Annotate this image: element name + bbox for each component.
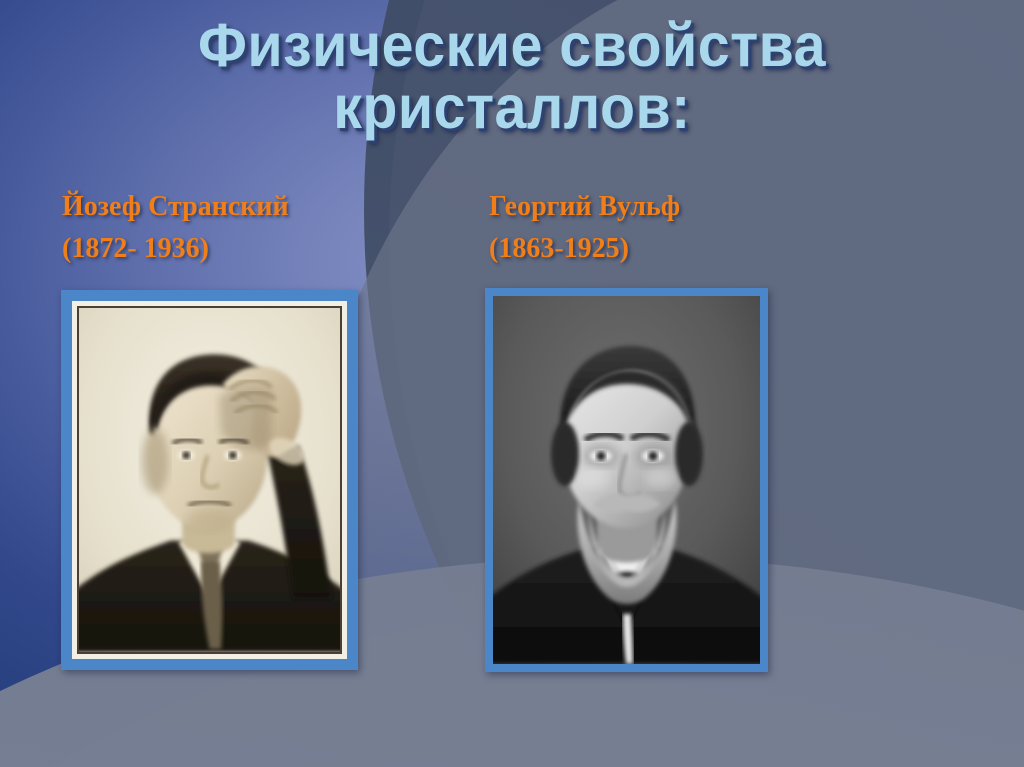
portrait-mat-wulff [493,296,760,664]
portrait-frame-wulff [485,288,768,672]
presentation-slide: Физические свойства кристаллов: Йозеф Ст… [0,0,1024,767]
slide-title: Физические свойства кристаллов: [31,14,994,138]
portrait-frame-stranski [61,290,358,670]
portrait-image-stranski [79,308,340,652]
portrait-image-wulff [493,296,760,664]
person-caption-wulff: Георгий Вульф (1863-1925) [489,186,680,270]
person-caption-stranski: Йозеф Странский (1872- 1936) [62,186,289,270]
portrait-mat-stranski [77,306,342,654]
